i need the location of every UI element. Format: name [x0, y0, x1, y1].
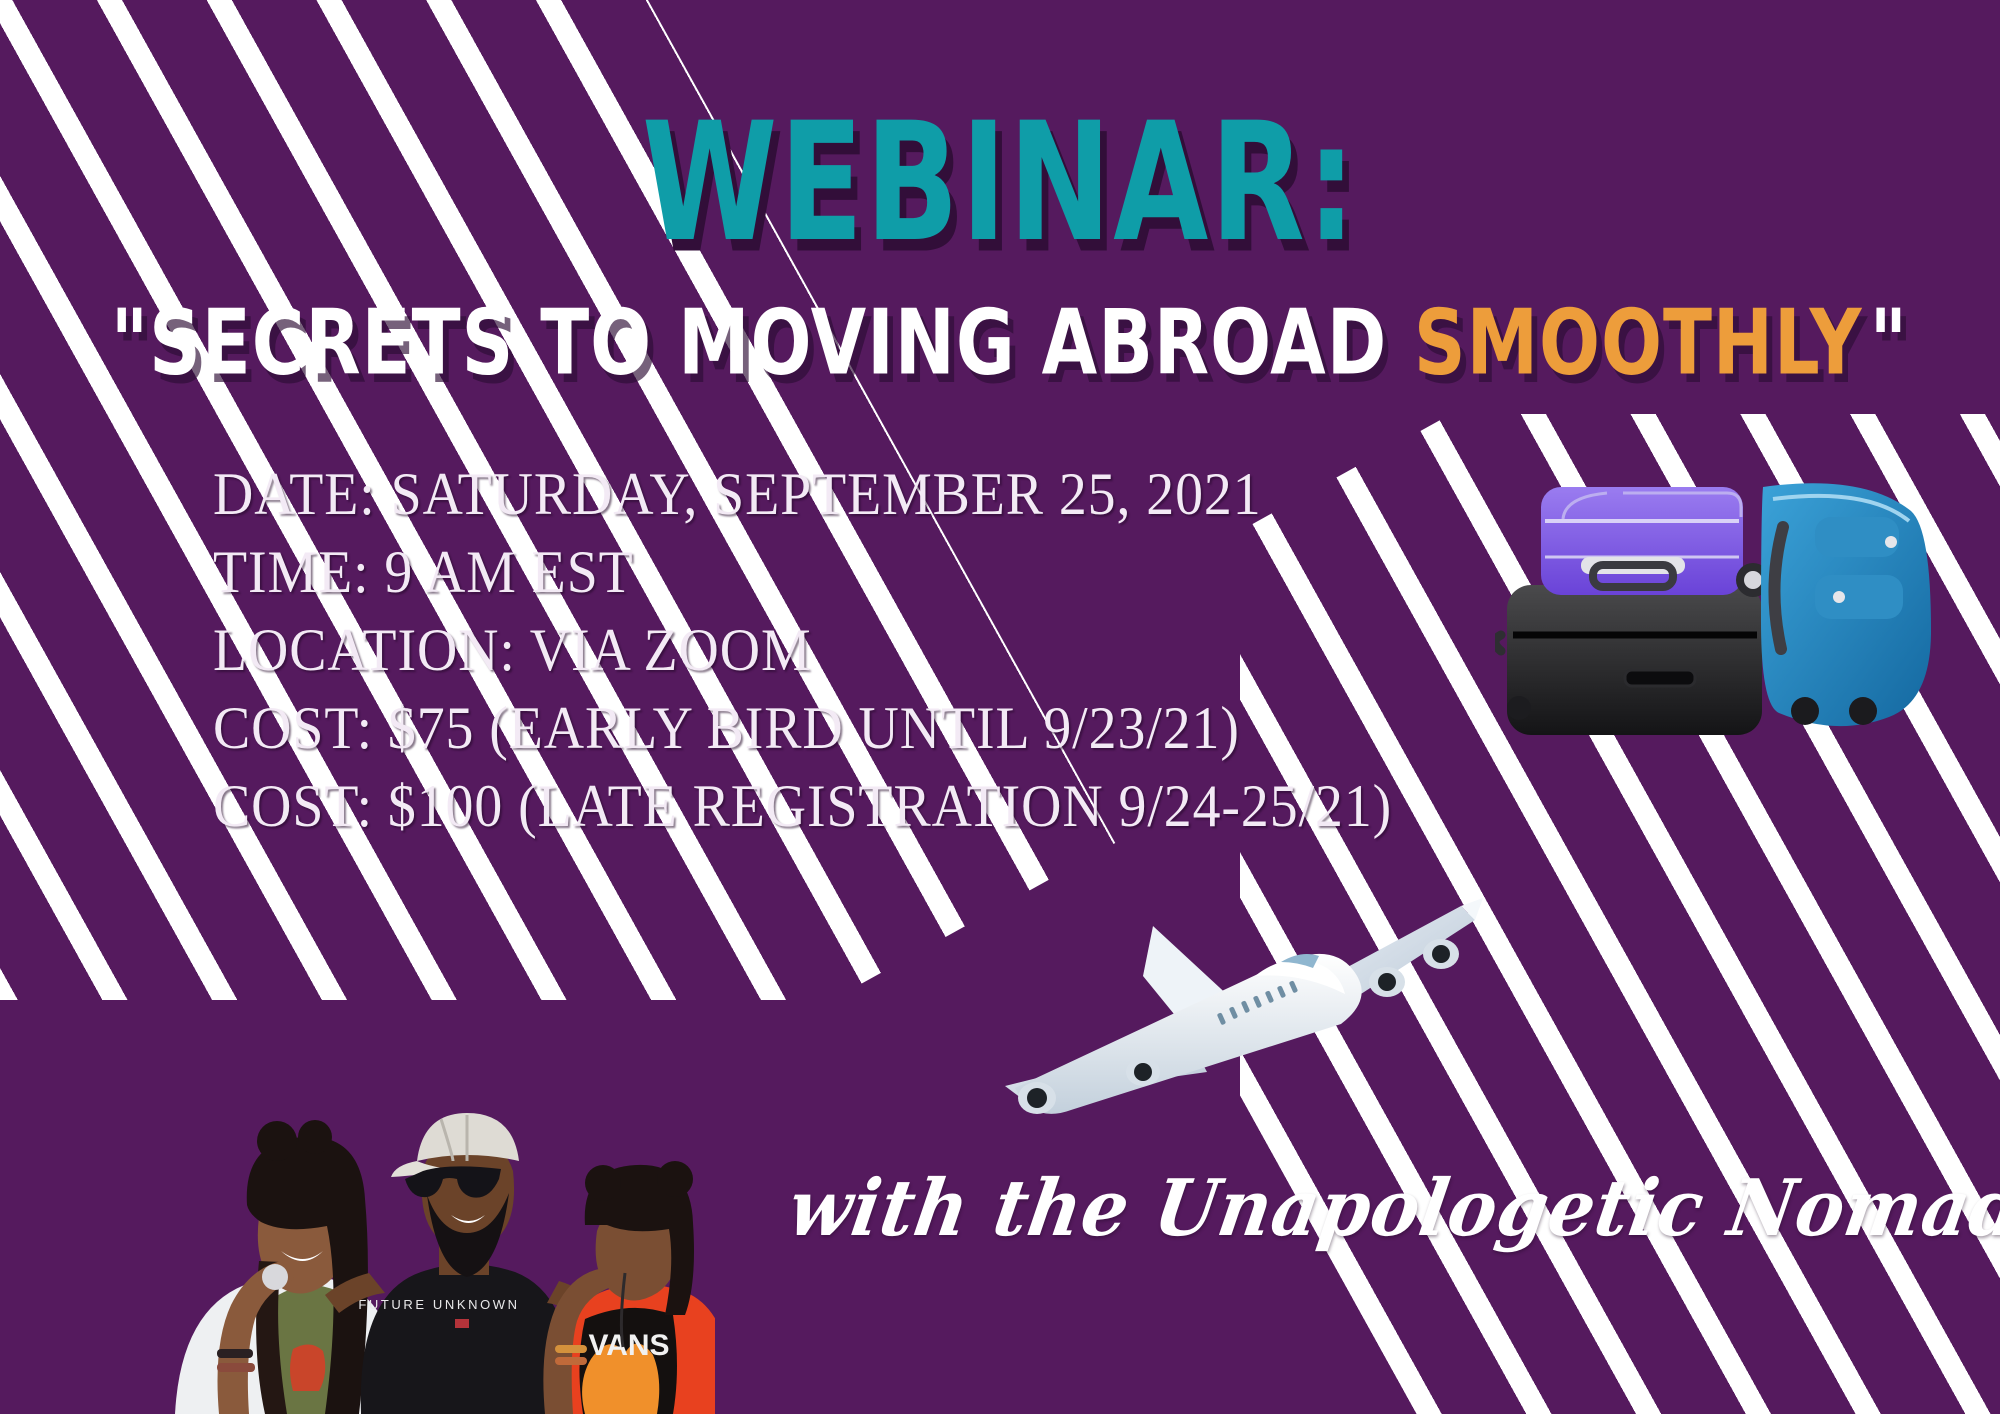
page-title-white: "SECRETS TO MOVING ABROAD — [111, 298, 1388, 388]
family-photo-image: FUTURE UNKNOWN — [155, 1019, 715, 1414]
detail-cost-early-bird: COST: $75 (EARLY BIRD UNTIL 9/23/21) — [213, 689, 1392, 767]
luggage-stack-image — [1495, 465, 1965, 755]
airplane-image — [975, 880, 1495, 1120]
purple-suitcase — [1541, 487, 1743, 595]
detail-time: TIME: 9 AM EST — [213, 533, 1392, 611]
detail-date: DATE: SATURDAY, SEPTEMBER 25, 2021 — [213, 455, 1392, 533]
blue-suitcase — [1761, 483, 1931, 726]
tagline: with the Unapologetic Nomads — [783, 1162, 2000, 1254]
svg-text:FUTURE UNKNOWN: FUTURE UNKNOWN — [358, 1297, 519, 1312]
person-girl: VANS — [543, 1161, 715, 1414]
webinar-flyer: WEBINAR: "SECRETS TO MOVING ABROAD SMOOT… — [0, 0, 2000, 1414]
headline-block: WEBINAR: "SECRETS TO MOVING ABROAD SMOOT… — [0, 120, 2000, 380]
black-suitcase — [1495, 585, 1762, 735]
event-details: DATE: SATURDAY, SEPTEMBER 25, 2021 TIME:… — [213, 455, 1481, 845]
page-title-closing-quote: " — [1870, 298, 1908, 388]
detail-location: LOCATION: VIA ZOOM — [213, 611, 1392, 689]
detail-cost-late: COST: $100 (LATE REGISTRATION 9/24-25/21… — [213, 767, 1392, 845]
page-title-highlight: SMOOTHLY — [1414, 298, 1863, 388]
eyebrow-webinar: WEBINAR: — [642, 102, 1358, 266]
svg-text:VANS: VANS — [588, 1329, 669, 1362]
